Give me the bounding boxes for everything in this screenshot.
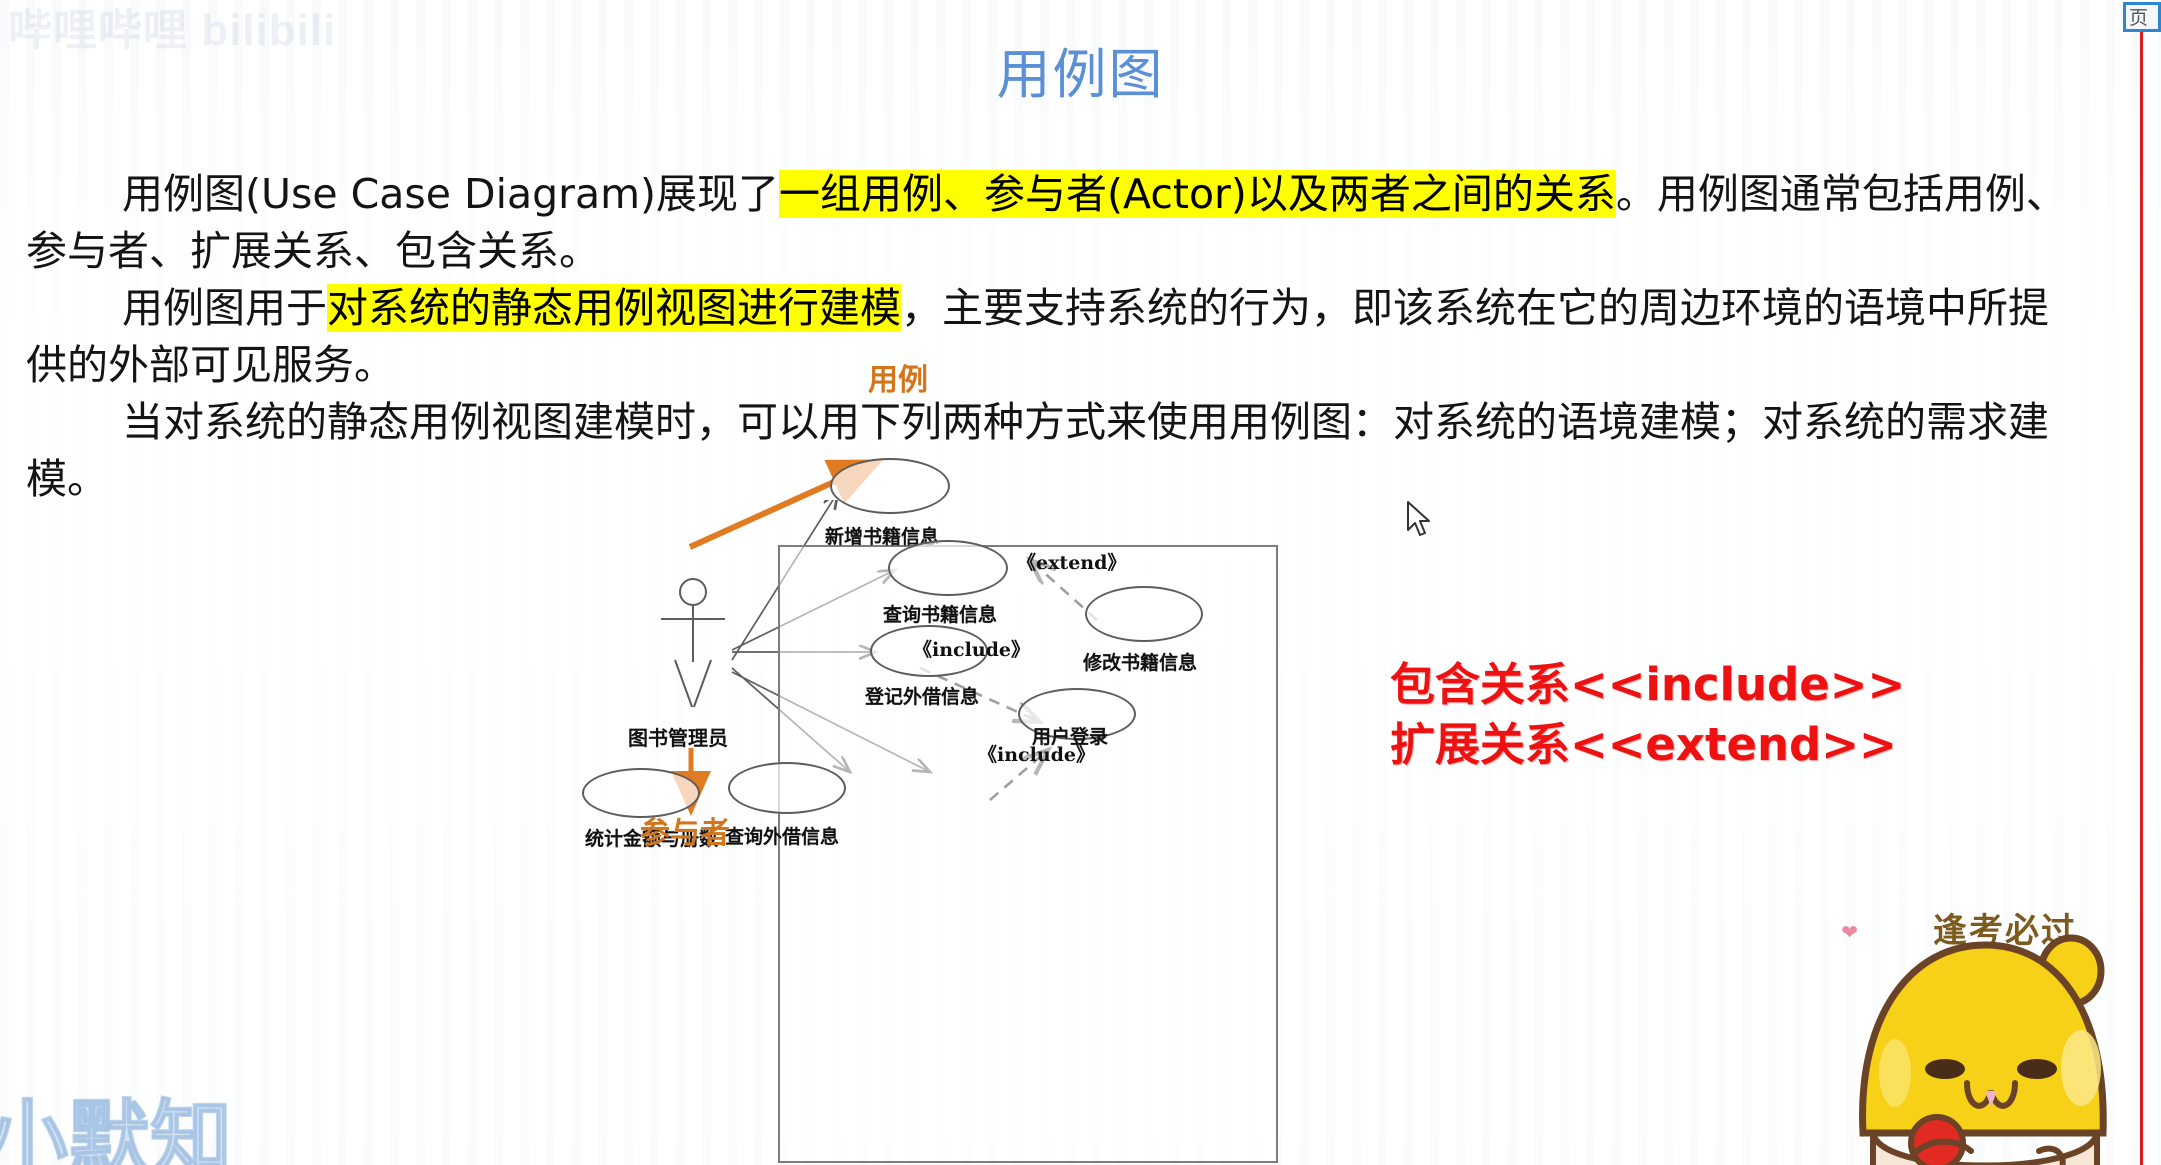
- paragraph-1: 用例图(Use Case Diagram)展现了一组用例、参与者(Actor)以…: [26, 166, 2086, 280]
- annotation-use-case: 用例: [868, 355, 928, 399]
- paragraph-2: 用例图用于对系统的静态用例视图进行建模，主要支持系统的行为，即该系统在它的周边环…: [26, 280, 2086, 394]
- annotation-actor: 参与者: [640, 808, 730, 852]
- use-case-diagram: 图书管理员 新增书籍信息 查询书籍信息 修改书籍信息 登记外借信息 用户登录 统…: [600, 500, 1340, 1165]
- actor-stick-figure: [658, 578, 728, 713]
- page-title: 用例图: [0, 30, 2161, 109]
- use-case-ellipse-add-book[interactable]: [830, 458, 950, 514]
- stereotype-include-2: 《include》: [978, 740, 1095, 767]
- actor-head: [679, 578, 707, 606]
- mouse-cursor: [1406, 500, 1434, 540]
- actor-arms: [661, 618, 725, 620]
- use-case-label-query-book: 查询书籍信息: [883, 600, 997, 627]
- corner-badge[interactable]: 页: [2123, 2, 2161, 32]
- actor-leg-left: [674, 660, 693, 708]
- stereotype-include-1: 《include》: [913, 635, 1030, 662]
- use-case-label-register-loan: 登记外借信息: [865, 682, 979, 709]
- use-case-ellipse-modify-book[interactable]: [1085, 586, 1203, 642]
- callout-line-extend: 扩展关系<<extend>>: [1390, 715, 1905, 775]
- actor-leg-right: [693, 660, 712, 708]
- actor-torso: [692, 606, 694, 662]
- paragraph-2-part-a: 用例图用于: [122, 284, 327, 332]
- use-case-ellipse-query-loan[interactable]: [728, 762, 846, 814]
- paragraph-1-highlight: 一组用例、参与者(Actor)以及两者之间的关系: [779, 170, 1616, 218]
- watermark-bottom: 小默知: [0, 1072, 232, 1165]
- right-red-rule: [2140, 12, 2143, 1165]
- paragraph-1-part-a: 用例图(Use Case Diagram)展现了: [122, 170, 779, 218]
- use-case-label-query-loan: 查询外借信息: [725, 822, 839, 849]
- use-case-label-modify-book: 修改书籍信息: [1083, 648, 1197, 675]
- mascot-illustration: [1835, 893, 2135, 1165]
- paragraph-2-highlight: 对系统的静态用例视图进行建模: [327, 284, 901, 332]
- callout-line-include: 包含关系<<include>>: [1390, 655, 1905, 715]
- use-case-ellipse-query-book[interactable]: [888, 540, 1008, 596]
- actor-label: 图书管理员: [628, 722, 728, 751]
- relationship-callout: 包含关系<<include>> 扩展关系<<extend>>: [1390, 655, 1905, 775]
- stereotype-extend: 《extend》: [1017, 548, 1126, 575]
